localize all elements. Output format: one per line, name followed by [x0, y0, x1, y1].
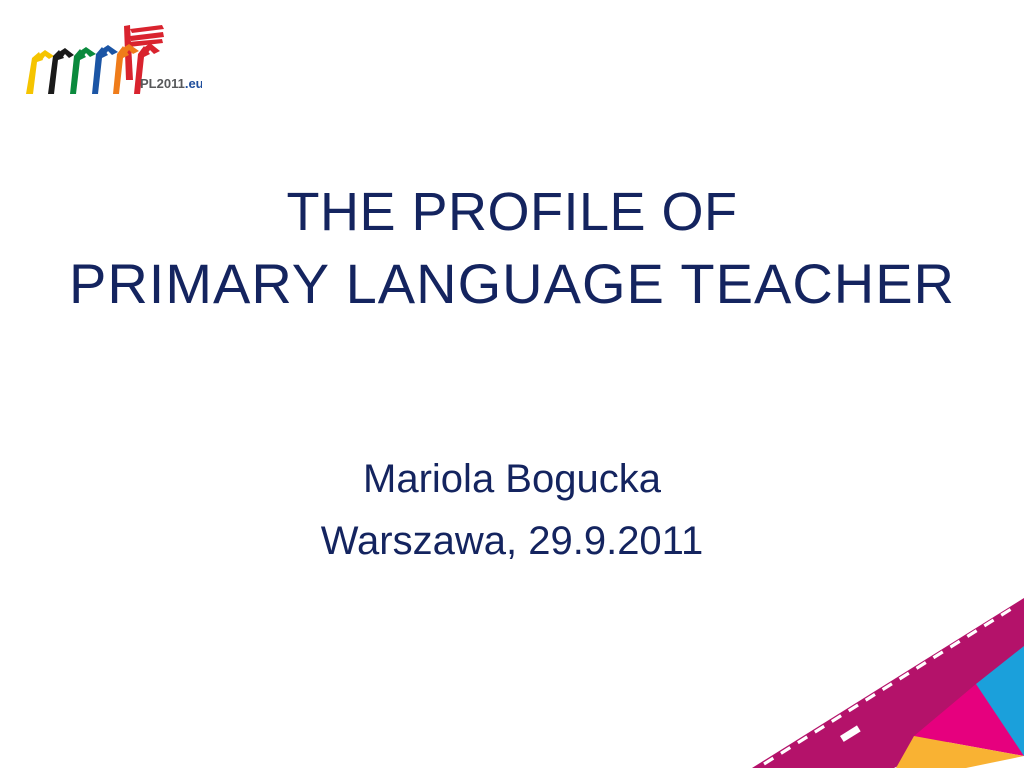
title-line-1: THE PROFILE OF [0, 176, 1024, 248]
logo-wordmark-suffix: .eu [185, 76, 202, 91]
title-line-2: PRIMARY LANGUAGE TEACHER [0, 248, 1024, 320]
page-title: THE PROFILE OF PRIMARY LANGUAGE TEACHER [0, 176, 1024, 320]
subtitle: Mariola Bogucka Warszawa, 29.9.2011 [0, 448, 1024, 572]
pl2011-presidency-logo: PL2011.eu [12, 16, 202, 98]
multilingualism-conference-ribbon: Multilingualism 28–29.09.2011 [744, 588, 1024, 768]
logo-wordmark: PL2011.eu [140, 76, 202, 91]
slide-canvas: PL2011.eu THE PROFILE OF PRIMARY LANGUAG… [0, 0, 1024, 768]
author-name: Mariola Bogucka [0, 448, 1024, 510]
place-and-date: Warszawa, 29.9.2011 [0, 510, 1024, 572]
